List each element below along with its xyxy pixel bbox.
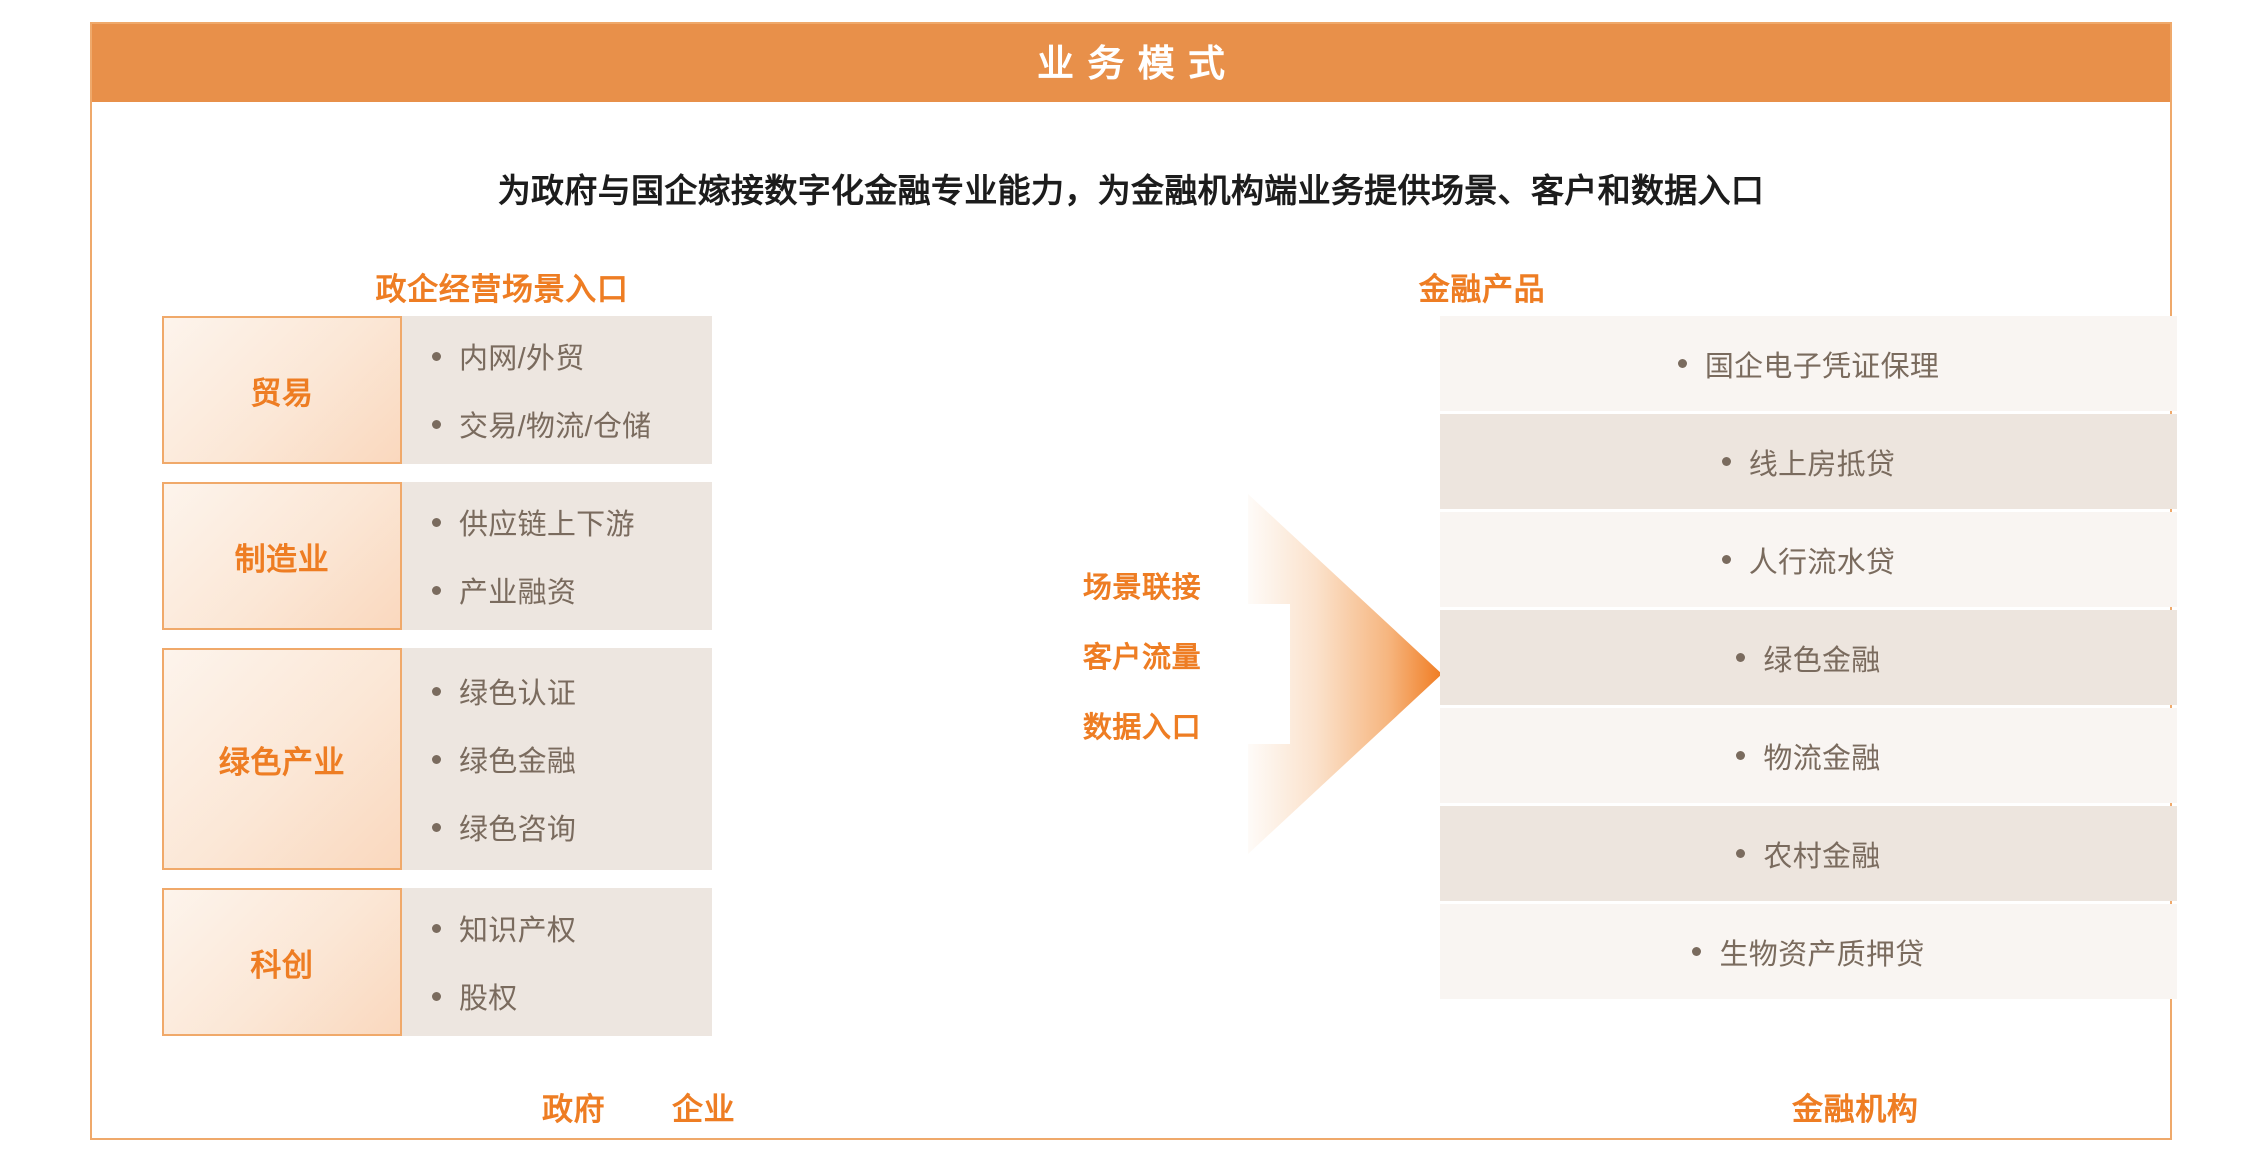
scene-item-label: 供应链上下游 [459,501,635,543]
scene-item: 股权 [432,962,712,1030]
product-text: 农村金融 [1736,833,1880,875]
bullet-dot-icon [1692,947,1701,956]
scene-category-label: 贸易 [250,368,313,413]
product-label: 绿色金融 [1763,637,1880,679]
connector-label: 客户流量 [1052,634,1232,676]
product-text: 物流金融 [1736,735,1880,777]
bullet-dot-icon [1736,849,1745,858]
scene-item-label: 绿色咨询 [459,806,576,848]
scene-item-label: 股权 [459,975,518,1017]
scene-row[interactable]: 科创 知识产权 股权 [162,888,712,1036]
scene-item: 产业融资 [432,556,712,624]
bullet-dot-icon [1678,359,1687,368]
scene-item-panel: 内网/外贸 交易/物流/仓储 [402,316,712,464]
scene-item: 绿色认证 [432,657,712,725]
slide-frame: 业务模式 为政府与国企嫁接数字化金融专业能力，为金融机构端业务提供场景、客户和数… [90,22,2172,1140]
bullet-dot-icon [432,518,441,527]
product-text: 绿色金融 [1736,637,1880,679]
scene-row[interactable]: 制造业 供应链上下游 产业融资 [162,482,712,630]
footer-label-enterprise: 企业 [672,1084,735,1129]
scene-item: 交易/物流/仓储 [432,390,712,458]
scene-category-label: 制造业 [235,534,330,579]
product-label: 线上房抵贷 [1749,441,1895,483]
right-column-heading: 金融产品 [1212,264,1752,309]
right-arrow-icon [1242,494,1452,854]
scene-item-label: 交易/物流/仓储 [459,403,651,445]
bullet-dot-icon [432,992,441,1001]
scene-item-panel: 绿色认证 绿色金融 绿色咨询 [402,648,712,870]
bullet-dot-icon [432,352,441,361]
financial-product-list: 国企电子凭证保理 线上房抵贷 人行流水贷 绿色金融 物流金融 [1440,316,2177,1002]
bullet-dot-icon [432,586,441,595]
bullet-dot-icon [432,420,441,429]
scene-category-box[interactable]: 贸易 [162,316,402,464]
scene-item: 绿色金融 [432,725,712,793]
connector-label: 场景联接 [1052,564,1232,606]
product-text: 国企电子凭证保理 [1678,343,1939,385]
scene-item: 供应链上下游 [432,488,712,556]
scene-item-label: 产业融资 [459,569,576,611]
product-label: 人行流水贷 [1749,539,1895,581]
scene-item-label: 内网/外贸 [459,335,585,377]
product-row[interactable]: 绿色金融 [1440,610,2177,705]
connector-section: 场景联接 客户流量 数据入口 [1052,544,1452,804]
product-label: 生物资产质押贷 [1719,931,1924,973]
product-row[interactable]: 农村金融 [1440,806,2177,901]
connector-label-group: 场景联接 客户流量 数据入口 [1052,564,1232,774]
scene-item-panel: 知识产权 股权 [402,888,712,1036]
scene-category-box[interactable]: 制造业 [162,482,402,630]
scene-item: 内网/外贸 [432,322,712,390]
product-label: 国企电子凭证保理 [1705,343,1939,385]
product-row[interactable]: 人行流水贷 [1440,512,2177,607]
scene-item: 绿色咨询 [432,793,712,861]
header-bar: 业务模式 [92,24,2170,102]
product-row[interactable]: 物流金融 [1440,708,2177,803]
product-text: 生物资产质押贷 [1692,931,1924,973]
footer-label-government: 政府 [542,1084,605,1129]
subtitle-text: 为政府与国企嫁接数字化金融专业能力，为金融机构端业务提供场景、客户和数据入口 [92,164,2170,212]
product-label: 物流金融 [1763,735,1880,777]
bullet-dot-icon [432,823,441,832]
scene-category-box[interactable]: 科创 [162,888,402,1036]
bullet-dot-icon [1736,653,1745,662]
scene-item-label: 知识产权 [459,907,576,949]
bullet-dot-icon [1736,751,1745,760]
left-column-heading: 政企经营场景入口 [232,264,772,309]
scene-row[interactable]: 绿色产业 绿色认证 绿色金融 绿色咨询 [162,648,712,870]
scene-item-label: 绿色金融 [459,738,576,780]
scene-item-label: 绿色认证 [459,670,576,712]
page-title: 业务模式 [1024,45,1239,82]
scene-category-label: 科创 [250,940,313,985]
connector-label: 数据入口 [1052,704,1232,746]
footer-label-financial-institution: 金融机构 [1792,1084,1918,1129]
product-text: 线上房抵贷 [1722,441,1895,483]
product-label: 农村金融 [1763,833,1880,875]
product-row[interactable]: 国企电子凭证保理 [1440,316,2177,411]
scene-category-box[interactable]: 绿色产业 [162,648,402,870]
product-row[interactable]: 线上房抵贷 [1440,414,2177,509]
scene-category-label: 绿色产业 [219,737,345,782]
scene-entry-list: 贸易 内网/外贸 交易/物流/仓储 制造业 供应链上下游 [162,316,712,1054]
bullet-dot-icon [1722,555,1731,564]
scene-item-panel: 供应链上下游 产业融资 [402,482,712,630]
product-row[interactable]: 生物资产质押贷 [1440,904,2177,999]
bullet-dot-icon [1722,457,1731,466]
scene-item: 知识产权 [432,894,712,962]
bullet-dot-icon [432,755,441,764]
bullet-dot-icon [432,924,441,933]
bullet-dot-icon [432,687,441,696]
scene-row[interactable]: 贸易 内网/外贸 交易/物流/仓储 [162,316,712,464]
product-text: 人行流水贷 [1722,539,1895,581]
